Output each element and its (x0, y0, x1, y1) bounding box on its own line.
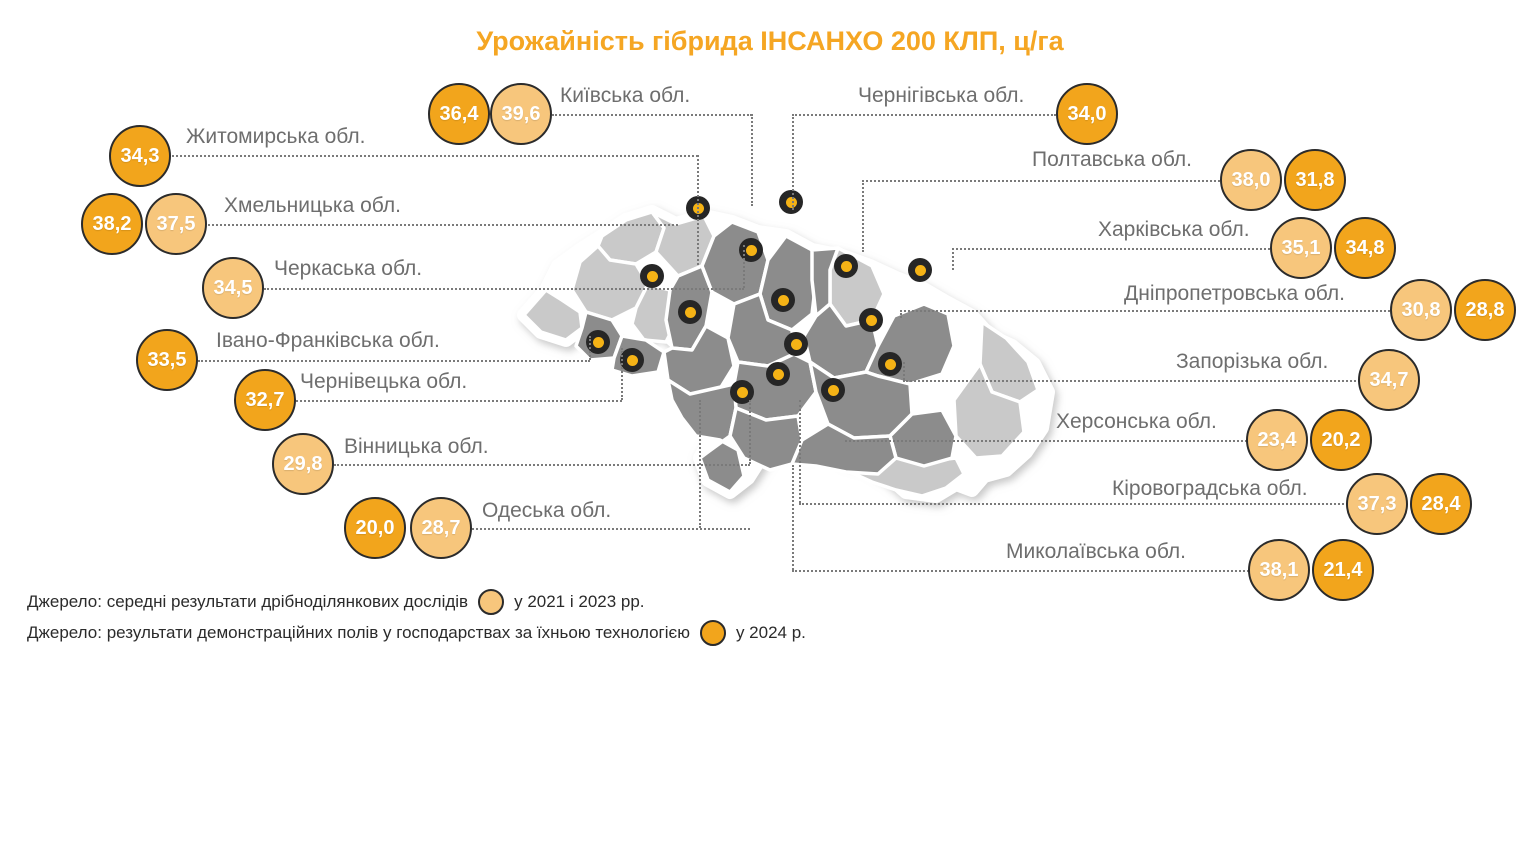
region-label-khmelnytskyi: Хмельницька обл. (224, 194, 401, 218)
bubble-kyiv-2024: 36,4 (428, 83, 490, 145)
region-label-zhytomyr: Житомирська обл. (186, 125, 365, 149)
bubble-kharkiv-2021-2023: 35,1 (1270, 217, 1332, 279)
bubble-poltava-2021-2023: 38,0 (1220, 149, 1282, 211)
bubble-mykolaiv-2024: 21,4 (1312, 539, 1374, 601)
region-label-poltava: Полтавська обл. (1032, 148, 1192, 172)
map-marker-mykolaiv (766, 362, 790, 386)
map-marker-vinnytsia (771, 288, 795, 312)
region-label-zaporizhzhia: Запорізька обл. (1176, 350, 1328, 374)
bubble-kherson-2021-2023: 23,4 (1246, 409, 1308, 471)
bubble-poltava-2024: 31,8 (1284, 149, 1346, 211)
map-marker-dnipro (859, 308, 883, 332)
legend-years-text-1: у 2021 і 2023 рр. (514, 592, 644, 612)
map-marker-kharkiv (908, 258, 932, 282)
bubble-zhytomyr-2024: 34,3 (109, 125, 171, 187)
page-title: Урожайність гібрида ІНСАНХО 200 КЛП, ц/г… (0, 26, 1540, 57)
leader-chernihiv (792, 114, 1056, 116)
leader-chernihiv-v (792, 114, 794, 210)
legend-row-2024: Джерело: результати демонстраційних полі… (27, 620, 806, 646)
leader-zhytomyr-v (697, 155, 699, 265)
bubble-odesa-2021-2023: 28,7 (410, 497, 472, 559)
leader-dnipro (900, 310, 1390, 312)
leader-ivano-v (589, 336, 591, 360)
map-marker-chernihiv (779, 190, 803, 214)
leader-poltava (862, 180, 1220, 182)
bubble-khmelnytskyi-2021-2023: 37,5 (145, 193, 207, 255)
bubble-kyiv-2021-2023: 39,6 (490, 83, 552, 145)
region-label-chernihiv: Чернігівська обл. (858, 84, 1024, 108)
leader-kherson (845, 440, 1251, 442)
bubble-dnipro-2021-2023: 30,8 (1390, 279, 1452, 341)
leader-odesa (472, 528, 750, 530)
leader-vinnytsia-v (749, 400, 751, 464)
region-label-dnipro: Дніпропетровська обл. (1124, 282, 1345, 306)
bubble-kharkiv-2024: 34,8 (1334, 217, 1396, 279)
map-marker-chernivtsi (620, 348, 644, 372)
leader-kyiv-v (751, 114, 753, 206)
bubble-khmelnytskyi-2024: 38,2 (81, 193, 143, 255)
ukraine-map (486, 140, 1066, 520)
leader-mykolaiv (792, 570, 1252, 572)
legend-source-text-2: Джерело: результати демонстраційних полі… (27, 623, 690, 643)
bubble-kirovohrad-2024: 28,4 (1410, 473, 1472, 535)
map-marker-poltava (834, 254, 858, 278)
bubble-mykolaiv-2021-2023: 38,1 (1248, 539, 1310, 601)
leader-zapor (903, 380, 1363, 382)
region-label-kirovohrad: Кіровоградська обл. (1112, 477, 1308, 501)
leader-chernivtsi (296, 400, 622, 402)
bubble-kherson-2024: 20,2 (1310, 409, 1372, 471)
leader-ivano (198, 360, 590, 362)
legend-years-text-2: у 2024 р. (736, 623, 806, 643)
leader-vinnytsia (334, 464, 750, 466)
region-label-mykolaiv: Миколаївська обл. (1006, 540, 1186, 564)
map-marker-kherson (821, 378, 845, 402)
leader-kharkiv-v (952, 248, 954, 270)
bubble-chernivtsi-2024: 32,7 (234, 369, 296, 431)
bubble-chernihiv-2024: 34,0 (1056, 83, 1118, 145)
bubble-cherkasy-2021-2023: 34,5 (202, 257, 264, 319)
region-label-ivano: Івано-Франківська обл. (216, 329, 440, 353)
leader-chernivtsi-v (621, 348, 623, 400)
bubble-zaporizhzhia-2021-2023: 34,7 (1358, 349, 1420, 411)
region-label-vinnytsia: Вінницька обл. (344, 435, 489, 459)
leader-zapor-v (903, 362, 905, 380)
bubble-dnipro-2024: 28,8 (1454, 279, 1516, 341)
legend-source-text-1: Джерело: середні результати дрібноділянк… (27, 592, 468, 612)
leader-khmel (208, 224, 678, 226)
region-label-cherkasy: Черкаська обл. (274, 257, 422, 281)
region-label-kherson: Херсонська обл. (1056, 410, 1217, 434)
region-label-chernivtsi: Чернівецька обл. (300, 370, 467, 394)
leader-kyiv (552, 114, 752, 116)
leader-cherkasy (264, 288, 744, 290)
bubble-ivano-2024: 33,5 (136, 329, 198, 391)
leader-kirovohrad (799, 503, 1351, 505)
leader-mykolaiv-v (792, 465, 794, 570)
leader-kharkiv (952, 248, 1270, 250)
leader-odesa-v (699, 400, 701, 528)
map-marker-zaporizhzhia (878, 352, 902, 376)
legend-dot-2021-2023-icon (478, 589, 504, 615)
infographic-canvas: Урожайність гібрида ІНСАНХО 200 КЛП, ц/г… (0, 0, 1540, 866)
region-label-kyiv: Київська обл. (560, 84, 690, 108)
bubble-kirovohrad-2021-2023: 37,3 (1346, 473, 1408, 535)
region-label-kharkiv: Харківська обл. (1098, 218, 1250, 242)
leader-cherkasy-v (743, 245, 745, 288)
leader-poltava-v (862, 180, 864, 252)
leader-zhytomyr (168, 155, 698, 157)
leader-kirovohrad-v (799, 400, 801, 503)
region-label-odesa: Одеська обл. (482, 499, 611, 523)
bubble-vinnytsia-2021-2023: 29,8 (272, 433, 334, 495)
legend-dot-2024-icon (700, 620, 726, 646)
map-marker-kirovohrad (784, 332, 808, 356)
legend-row-2021-2023: Джерело: середні результати дрібноділянк… (27, 589, 645, 615)
map-marker-khmelnytskyi (678, 300, 702, 324)
bubble-odesa-2024: 20,0 (344, 497, 406, 559)
leader-dnipro-v (900, 310, 902, 318)
map-marker-zhytomyr (640, 264, 664, 288)
